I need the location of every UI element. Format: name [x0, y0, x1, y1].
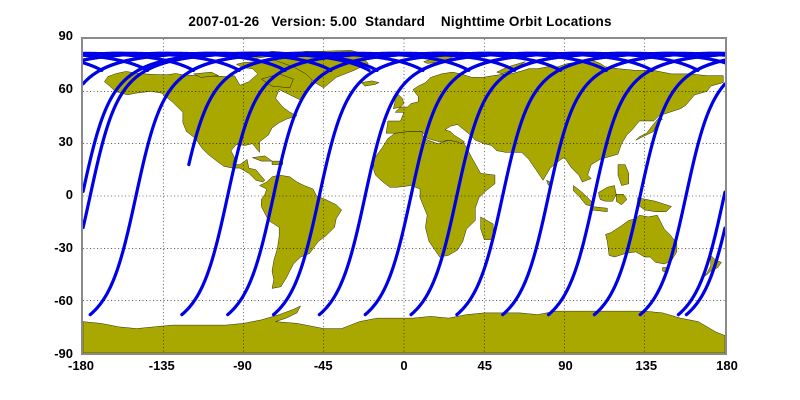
x-tick--90: -90	[213, 358, 273, 373]
land-iceland	[361, 81, 379, 86]
land-australia	[606, 215, 677, 264]
y-tick--30: -30	[33, 240, 73, 255]
land-madagascar	[481, 217, 493, 240]
orbit-track-13-polar-arc	[696, 60, 725, 70]
x-tick-45: 45	[455, 358, 515, 373]
y-tick-60: 60	[33, 81, 73, 96]
land-new-guinea	[638, 198, 672, 212]
orbit-location-figure: 2007-01-26 Version: 5.00 Standard Nightt…	[0, 0, 800, 400]
x-tick--180: -180	[51, 358, 111, 373]
x-tick-0: 0	[374, 358, 434, 373]
y-tick--60: -60	[33, 293, 73, 308]
y-tick-0: 0	[33, 187, 73, 202]
world-map-svg	[83, 39, 725, 353]
land-sulawesi	[616, 194, 627, 204]
land-borneo-indonesia	[598, 186, 616, 202]
x-tick--45: -45	[293, 358, 353, 373]
land-java	[591, 206, 607, 211]
figure-title: 2007-01-26 Version: 5.00 Standard Nightt…	[0, 14, 800, 29]
y-tick-90: 90	[33, 28, 73, 43]
x-tick-90: 90	[536, 358, 596, 373]
map-plot-area	[81, 37, 727, 355]
land-cuba	[252, 156, 272, 161]
x-tick-180: 180	[697, 358, 757, 373]
y-tick-30: 30	[33, 134, 73, 149]
x-tick-135: 135	[616, 358, 676, 373]
land-philippines	[618, 165, 629, 186]
land-africa-eurasia	[374, 131, 495, 257]
x-tick--135: -135	[132, 358, 192, 373]
land-sumatra	[573, 186, 593, 207]
